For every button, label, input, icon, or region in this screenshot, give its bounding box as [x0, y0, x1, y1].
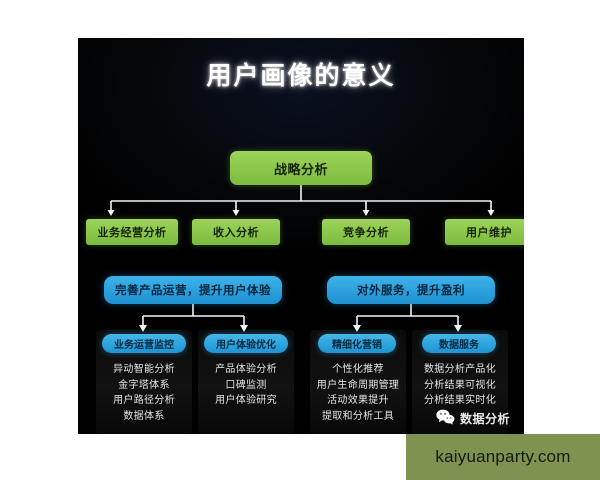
pill-refined-marketing[interactable]: 精细化营销 [318, 334, 396, 353]
pill-business-operation-monitoring[interactable]: 业务运营监控 [102, 334, 186, 353]
node-revenue-analysis[interactable]: 收入分析 [192, 219, 280, 245]
leaf-item: 产品体验分析 [198, 362, 294, 378]
wechat-icon [436, 409, 455, 428]
leaf-item: 数据分析产品化 [410, 362, 510, 378]
node-user-maintenance[interactable]: 用户维护 [445, 219, 524, 245]
wechat-label: 数据分析 [460, 410, 510, 427]
wechat-credit: 数据分析 [436, 409, 510, 428]
leaf-item: 用户体验研究 [198, 393, 294, 409]
pill-data-service[interactable]: 数据服务 [422, 334, 496, 353]
leaf-list-4: 数据分析产品化 分析结果可视化 分析结果实时化 [410, 362, 510, 409]
watermark-text: kaiyuanparty.com [435, 447, 570, 467]
node-business-operation-analysis[interactable]: 业务经营分析 [86, 219, 178, 245]
leaf-item: 用户路径分析 [96, 393, 192, 409]
leaf-list-1: 异动智能分析 金字塔体系 用户路径分析 数据体系 [96, 362, 192, 424]
leaf-list-2: 产品体验分析 口碑监测 用户体验研究 [198, 362, 294, 409]
leaf-item: 活动效果提升 [306, 393, 410, 409]
node-root-strategy[interactable]: 战略分析 [230, 151, 372, 185]
infographic-panel: 用户画像的意义 战略分析 业务经营分析 收入分析 竞争分析 用户维护 完善产品运… [78, 38, 524, 434]
leaf-item: 用户生命周期管理 [306, 378, 410, 394]
leaf-item: 提取和分析工具 [306, 409, 410, 425]
screenshot-canvas: 用户画像的意义 战略分析 业务经营分析 收入分析 竞争分析 用户维护 完善产品运… [0, 0, 600, 480]
leaf-item: 口碑监测 [198, 378, 294, 394]
leaf-item: 分析结果实时化 [410, 393, 510, 409]
pill-user-experience-optimization[interactable]: 用户体验优化 [204, 334, 288, 353]
leaf-item: 分析结果可视化 [410, 378, 510, 394]
page-title: 用户画像的意义 [78, 56, 524, 92]
leaf-item: 金字塔体系 [96, 378, 192, 394]
node-external-service-profit[interactable]: 对外服务，提升盈利 [327, 276, 495, 304]
leaf-item: 数据体系 [96, 409, 192, 425]
node-improve-product-experience[interactable]: 完善产品运营，提升用户体验 [104, 276, 282, 304]
leaf-item: 异动智能分析 [96, 362, 192, 378]
leaf-list-3: 个性化推荐 用户生命周期管理 活动效果提升 提取和分析工具 [306, 362, 410, 424]
leaf-item: 个性化推荐 [306, 362, 410, 378]
node-competition-analysis[interactable]: 竞争分析 [322, 219, 410, 245]
watermark-banner: kaiyuanparty.com [406, 434, 600, 480]
